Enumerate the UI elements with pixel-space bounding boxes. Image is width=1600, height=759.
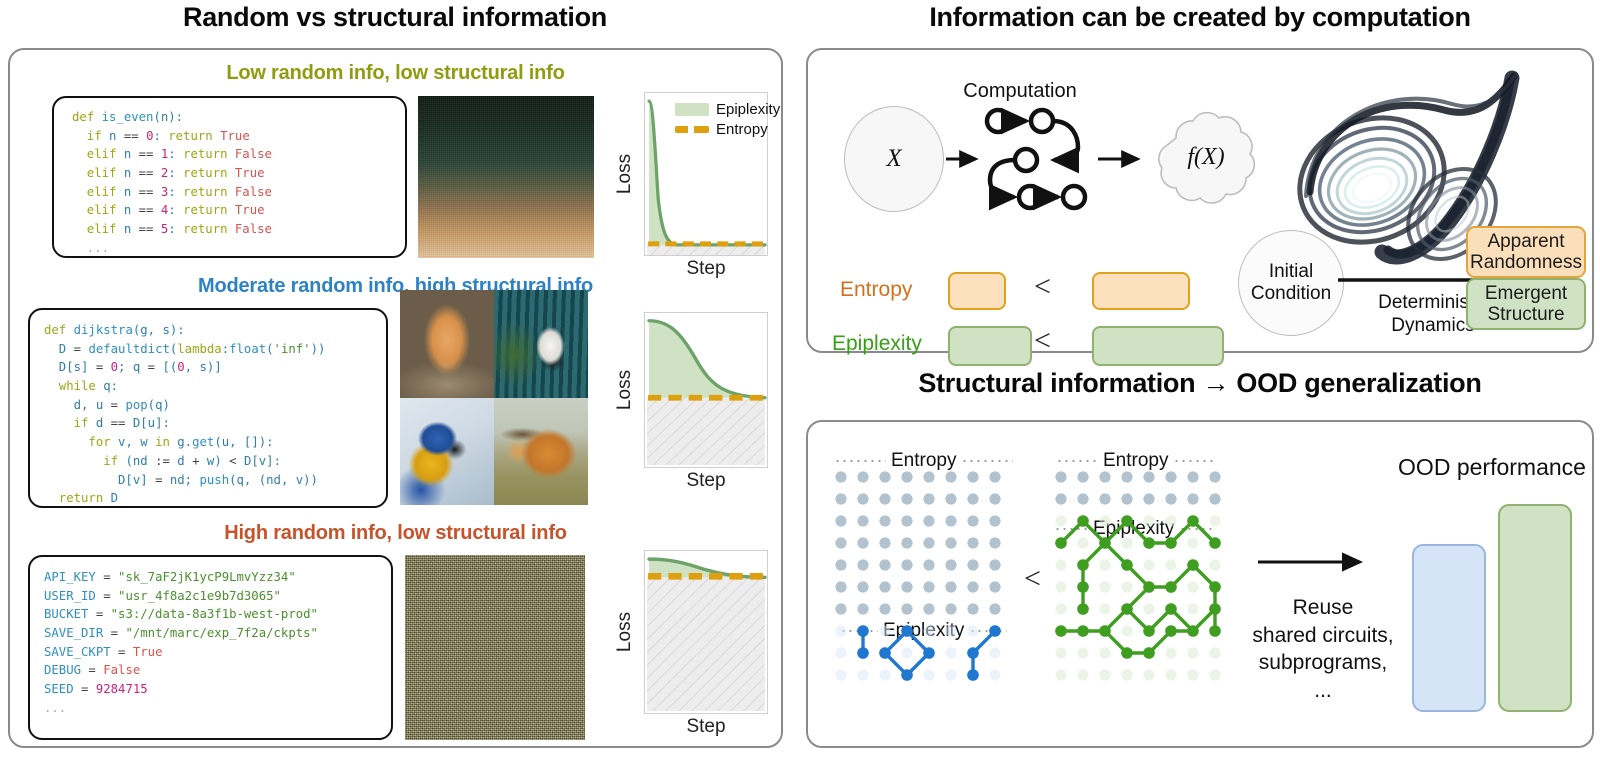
loss-axis-label-1: Loss: [608, 312, 642, 468]
code-block-is-even: def is_even(n): if n == 0: return True e…: [72, 108, 272, 258]
emergent-structure-line-2: Structure: [1487, 304, 1564, 325]
code-card-dijkstra: def dijkstra(g, s): D = defaultdict(lamb…: [28, 308, 388, 508]
initial-condition-line-2: Condition: [1251, 283, 1331, 305]
output-node-cloud: f(X): [1146, 102, 1266, 212]
top-right-panel-title: Information can be created by computatio…: [800, 2, 1600, 33]
loss-plot-high-random: Loss Step: [608, 550, 768, 740]
loss-axis-label-0: Loss: [608, 92, 642, 256]
reuse-line-3: subprograms,: [1238, 649, 1408, 677]
apparent-randomness-line-1: Apparent: [1487, 231, 1564, 252]
code-card-config: API_KEY = "sk_7aF2jK1ycP9LmvYzz34"USER_I…: [28, 555, 393, 740]
grid-comparator: <: [1024, 562, 1041, 596]
entropy-comparator: <: [1034, 270, 1051, 304]
epiplexity-bar-small: [948, 326, 1032, 366]
code-block-config: API_KEY = "sk_7aF2jK1ycP9LmvYzz34"USER_I…: [44, 568, 318, 718]
input-node-X: X: [844, 106, 944, 212]
plot-legend: Epiplexity Entropy: [675, 101, 780, 141]
emergent-structure-line-1: Emergent: [1485, 283, 1567, 304]
row-heading-high-random: High random info, low structural info: [10, 522, 781, 545]
animal-photo-grid: [400, 290, 588, 505]
apparent-randomness-line-2: Randomness: [1470, 252, 1582, 273]
plot-frame-0: Epiplexity Entropy: [644, 92, 768, 256]
initial-condition-line-1: Initial: [1269, 261, 1313, 283]
bottom-right-panel-title: Structural information → OOD generalizat…: [800, 368, 1600, 399]
initial-condition-node: Initial Condition: [1238, 230, 1344, 336]
entropy-bar-small: [948, 272, 1006, 310]
ood-bar-blue: [1412, 544, 1486, 712]
loss-plot-low-random: Loss Epiplexity Entropy Step: [608, 92, 768, 282]
reuse-line-1: Reuse: [1238, 594, 1408, 622]
left-panel-title: Random vs structural information: [0, 2, 790, 33]
epiplexity-bar-large: [1092, 326, 1224, 366]
computation-label: Computation: [930, 80, 1110, 103]
plot-frame-2: [644, 550, 768, 714]
epiplexity-bar-label: Epiplexity: [832, 332, 922, 356]
plot-frame-1: [644, 312, 768, 468]
emergent-structure-box: Emergent Structure: [1466, 278, 1586, 330]
row-heading-moderate-random: Moderate random info, high structural in…: [10, 275, 781, 298]
code-block-dijkstra: def dijkstra(g, s): D = defaultdict(lamb…: [44, 321, 325, 508]
photo-panda: [494, 290, 588, 398]
photo-highland-cow: [494, 398, 588, 506]
legend-swatch-entropy: [675, 126, 709, 133]
reuse-line-4: ...: [1238, 677, 1408, 705]
row-heading-low-random: Low random info, low structural info: [10, 62, 781, 85]
photo-macaw: [400, 398, 494, 506]
entropy-bar-large: [1092, 272, 1190, 310]
ood-performance-title: OOD performance: [1392, 454, 1592, 481]
step-axis-label-2: Step: [644, 716, 768, 740]
step-axis-label-1: Step: [644, 470, 768, 494]
entropy-epiplexity-grid-right: [1052, 468, 1228, 700]
random-vs-structural-panel: Low random info, low structural info def…: [8, 48, 783, 748]
ood-bar-green: [1498, 504, 1572, 712]
reuse-line-2: shared circuits,: [1238, 622, 1408, 650]
gradient-image: [418, 96, 594, 258]
code-card-is-even: def is_even(n): if n == 0: return True e…: [52, 96, 407, 258]
legend-label-entropy: Entropy: [716, 121, 768, 138]
entropy-epiplexity-grid-left: [832, 468, 1008, 700]
reuse-arrow: [1256, 552, 1386, 576]
photo-kitten: [400, 290, 494, 398]
loss-axis-label-2: Loss: [608, 550, 642, 714]
apparent-randomness-box: Apparent Randomness: [1466, 226, 1586, 278]
computation-panel: Computation X f(X) Entropy < Epiplexity: [806, 48, 1594, 353]
ood-generalization-panel: Entropy Epiplexity < Entropy Epiplexity …: [806, 420, 1594, 748]
reuse-text-block: Reuse shared circuits, subprograms, ...: [1238, 594, 1408, 705]
legend-label-epiplexity: Epiplexity: [716, 101, 780, 118]
entropy-bar-label: Entropy: [840, 278, 912, 302]
epiplexity-comparator: <: [1034, 324, 1051, 358]
random-noise-image: [405, 555, 585, 740]
legend-swatch-epiplexity: [675, 103, 709, 116]
loss-plot-moderate-random: Loss Step: [608, 312, 768, 494]
